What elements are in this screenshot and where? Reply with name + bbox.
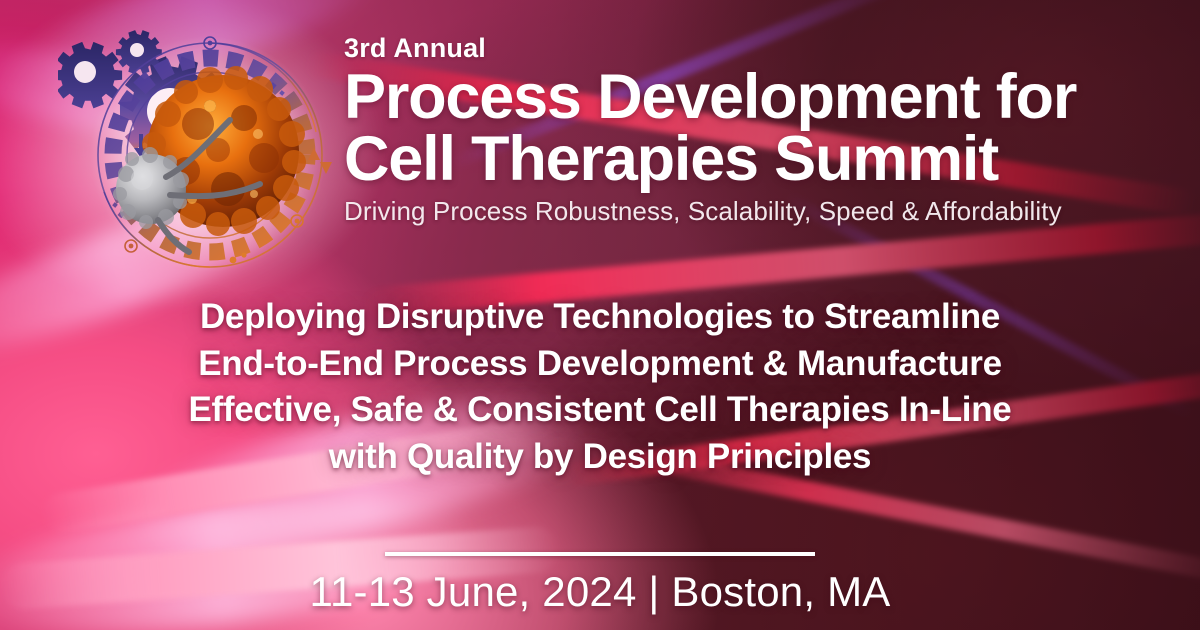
event-title-line1: Process Development for	[344, 62, 1076, 132]
event-date-location: 11-13 June, 2024 | Boston, MA	[0, 568, 1200, 616]
headline-line-4: with Quality by Design Principles	[16, 434, 1184, 481]
event-title-block: 3rd Annual Process Development for Cell …	[344, 34, 1192, 228]
headline-line-2: End-to-End Process Development & Manufac…	[16, 341, 1184, 388]
event-logo	[58, 14, 350, 286]
footer-divider	[385, 552, 815, 556]
event-kicker: 3rd Annual	[344, 34, 1192, 64]
headline-line-1: Deploying Disruptive Technologies to Str…	[16, 294, 1184, 341]
headline-line-3: Effective, Safe & Consistent Cell Therap…	[16, 387, 1184, 434]
event-headline: Deploying Disruptive Technologies to Str…	[0, 294, 1200, 481]
event-title: Process Development for Cell Therapies S…	[344, 66, 1192, 191]
event-tagline: Driving Process Robustness, Scalability,…	[344, 196, 1192, 227]
conference-banner: 3rd Annual Process Development for Cell …	[0, 0, 1200, 630]
event-title-line2: Cell Therapies Summit	[344, 128, 1192, 190]
